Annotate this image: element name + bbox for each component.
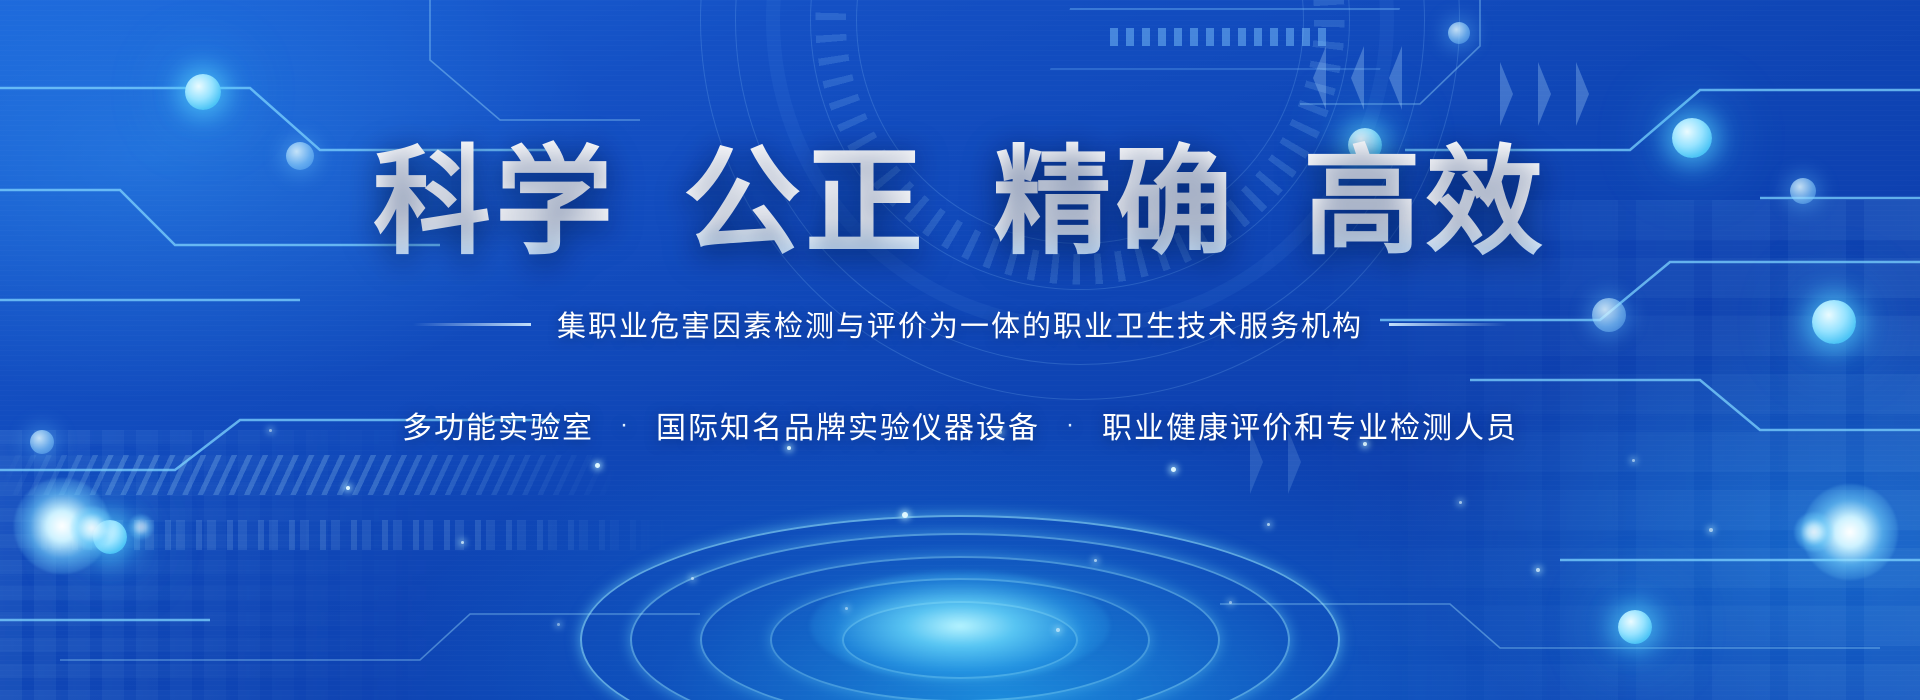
subtitle-rule-left	[413, 323, 531, 326]
headline-word-2: 公正	[683, 140, 927, 267]
subtitle-row: 集职业危害因素检测与评价为一体的职业卫生技术服务机构	[413, 303, 1507, 345]
feature-item-2: 国际知名品牌实验仪器设备	[656, 403, 1040, 447]
feature-list: 多功能实验室 · 国际知名品牌实验仪器设备 · 职业健康评价和专业检测人员	[402, 403, 1518, 447]
feature-item-1: 多功能实验室	[402, 403, 594, 447]
subtitle-rule-right	[1389, 323, 1507, 326]
headline-word-3: 精确	[993, 140, 1237, 267]
feature-item-3: 职业健康评价和专业检测人员	[1102, 403, 1518, 447]
headline: 科学 公正 精确 高效	[373, 140, 1547, 267]
headline-word-1: 科学	[373, 140, 617, 267]
subtitle: 集职业危害因素检测与评价为一体的职业卫生技术服务机构	[557, 303, 1363, 345]
headline-word-4: 高效	[1303, 140, 1547, 267]
banner-content: 科学 公正 精确 高效 集职业危害因素检测与评价为一体的职业卫生技术服务机构 多…	[0, 0, 1920, 700]
tech-banner: 科学 公正 精确 高效 集职业危害因素检测与评价为一体的职业卫生技术服务机构 多…	[0, 0, 1920, 700]
feature-separator-icon: ·	[1066, 413, 1076, 437]
feature-separator-icon: ·	[620, 413, 630, 437]
